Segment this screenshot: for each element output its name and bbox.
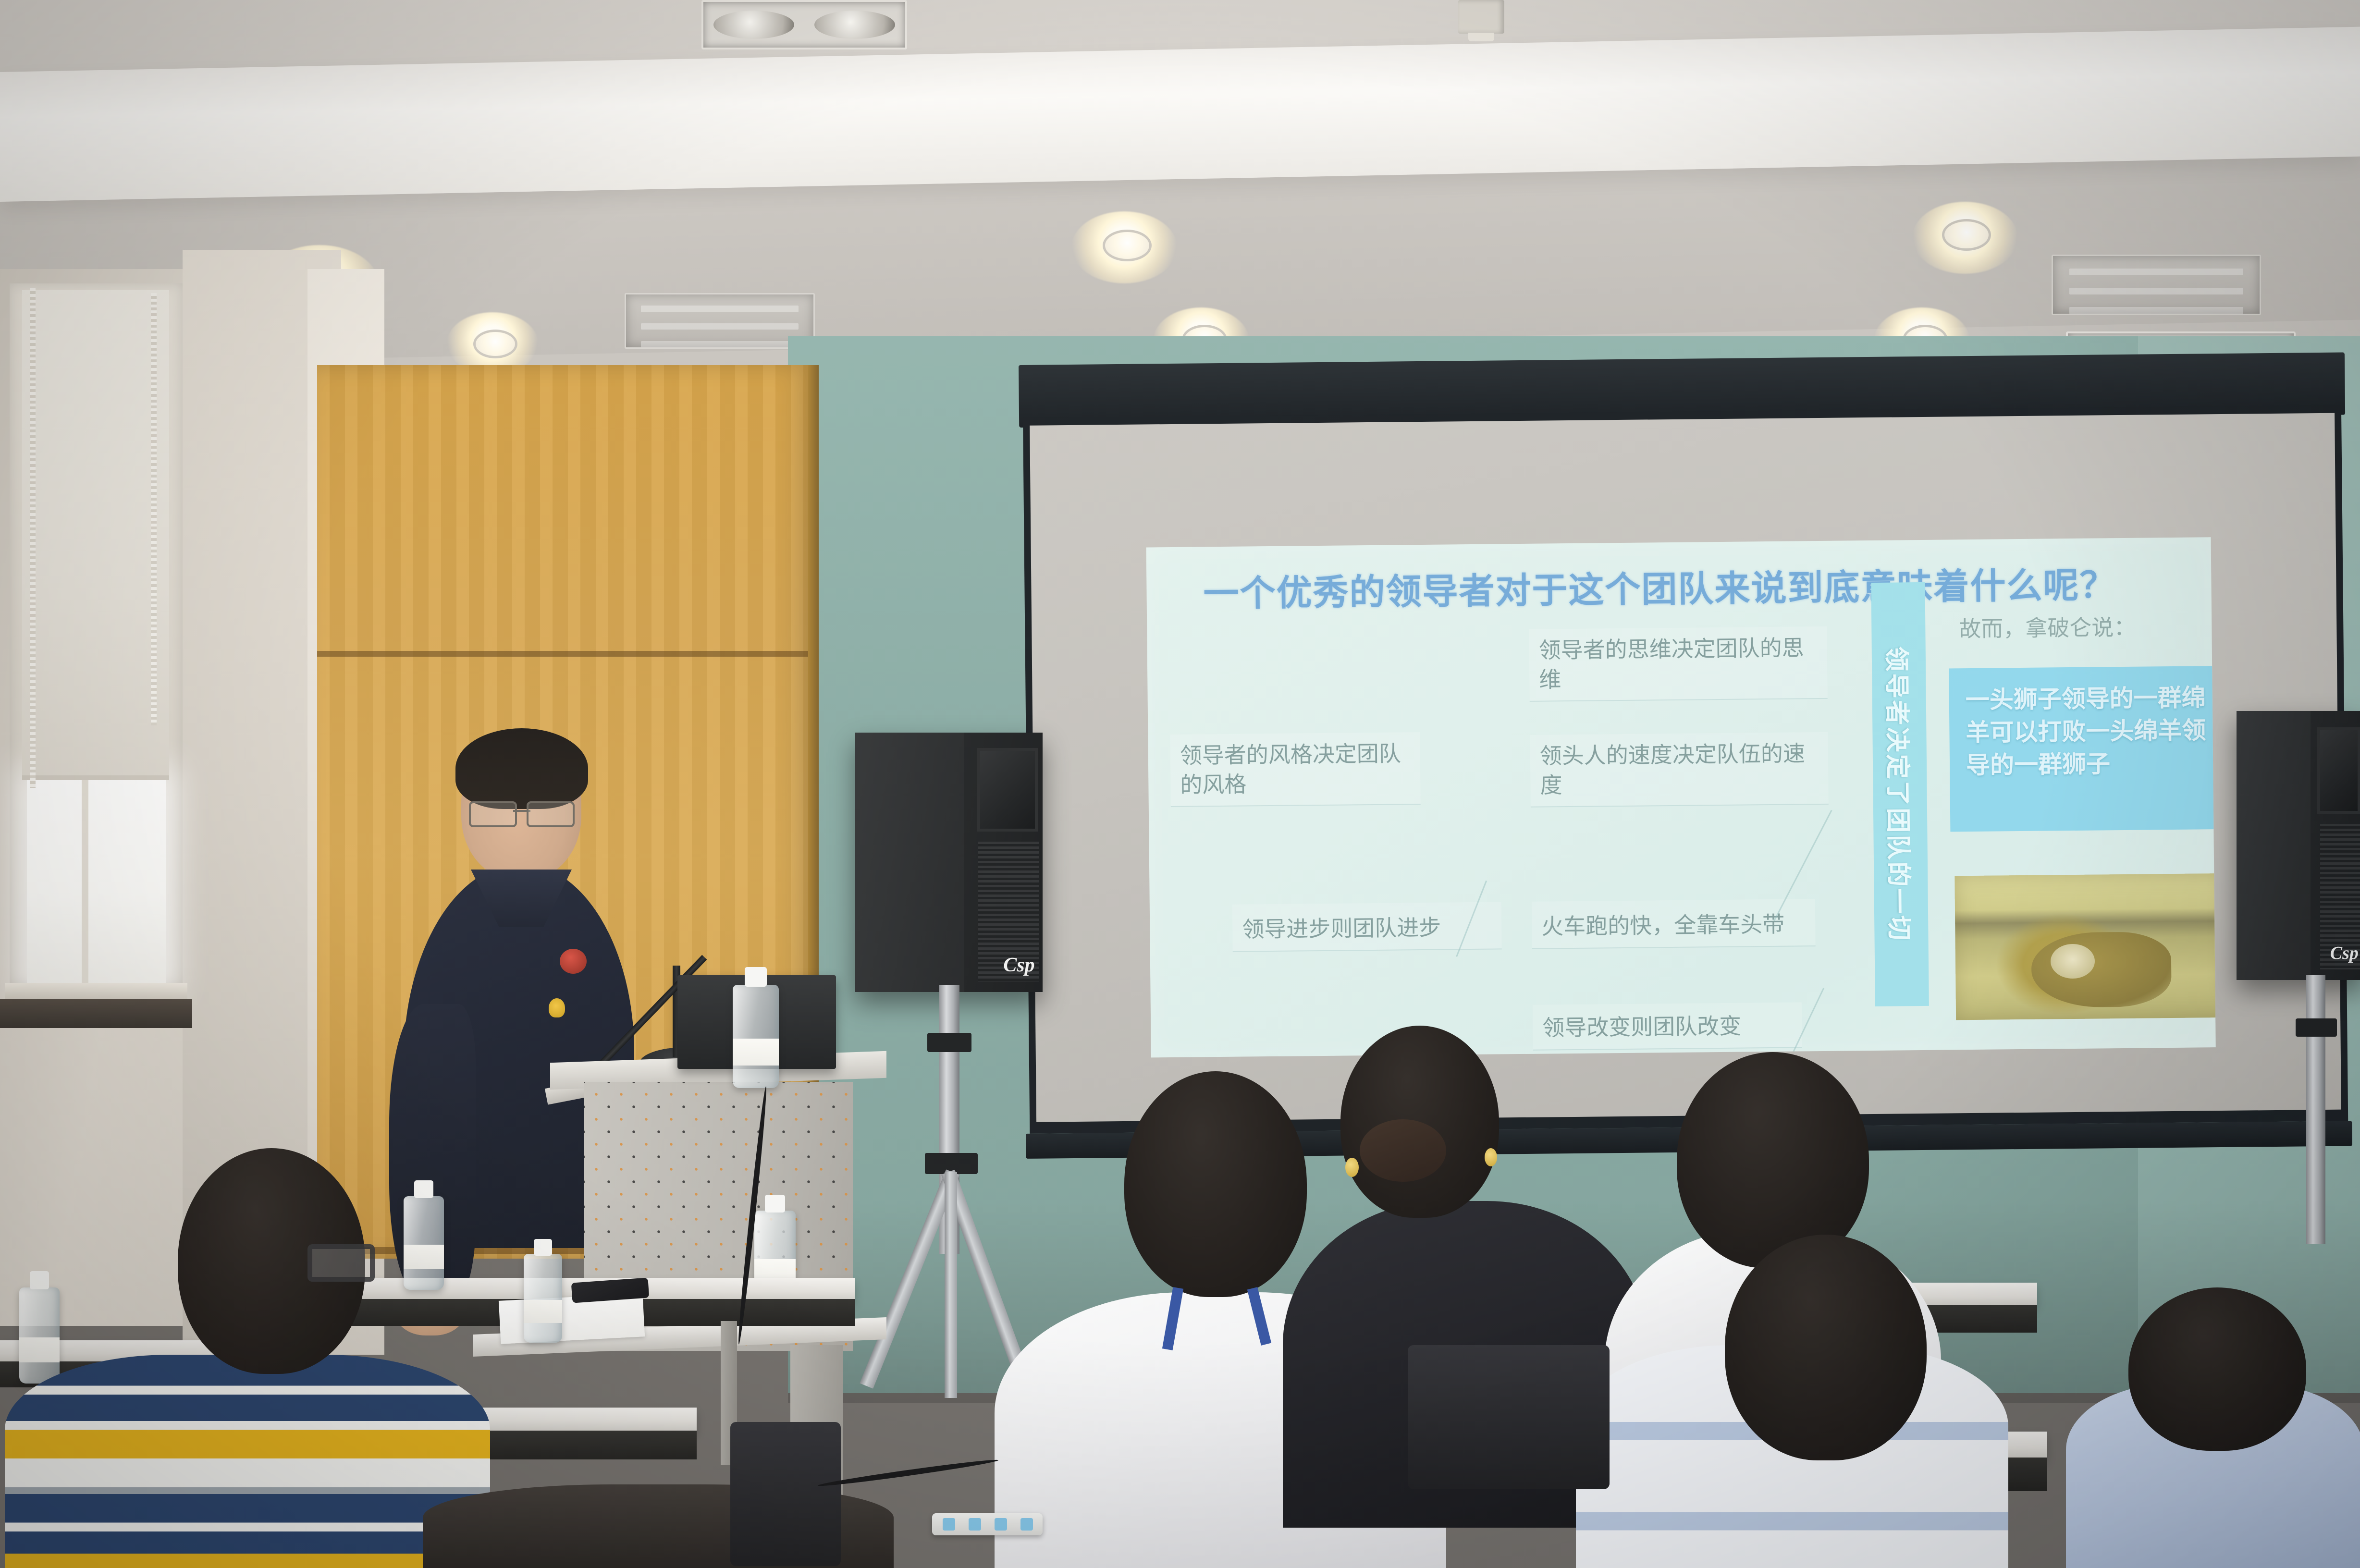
blind-chain[interactable]: [30, 288, 36, 788]
glasses-lens-right: [527, 801, 575, 827]
power-strip-socket-4: [1020, 1518, 1033, 1531]
attendee-white-shirt-head: [1124, 1071, 1307, 1297]
attendee-striped-polo-torso: [5, 1355, 490, 1568]
power-strip-socket-2: [969, 1518, 981, 1531]
hair-bun: [1360, 1119, 1446, 1182]
earring-icon: [1345, 1158, 1359, 1177]
ceiling-downlight-icon-5: [1942, 219, 1991, 251]
pa-speaker-horn-right: [2317, 727, 2360, 814]
roller-blind-icon[interactable]: [22, 290, 169, 780]
slide-napoleon-lead-in: 故而，拿破仑说：: [1959, 609, 2216, 644]
fire-sprinkler-icon: [1458, 0, 1504, 34]
pa-speaker-face: Csp: [964, 733, 1043, 992]
lion-body: [2031, 931, 2172, 1008]
power-strip-socket-3: [995, 1518, 1007, 1531]
lion-photo: [1954, 873, 2215, 1020]
presentation-slide: 一个优秀的领导者对于这个团队来说到底意味着什么呢？ 领导者的思维决定团队的思维 …: [1146, 537, 2216, 1057]
chair-2: [1408, 1345, 1610, 1489]
speaker-stand-column-right: [2306, 975, 2325, 1244]
water-bottle-4[interactable]: [524, 1254, 562, 1343]
pa-speaker-left: Csp: [855, 733, 1043, 992]
earring-icon-2: [1485, 1148, 1497, 1166]
pa-speaker-right: Csp: [2237, 711, 2360, 980]
pa-speaker-brand-label-right: Csp: [2330, 943, 2359, 964]
slide-box-thinking: 领导者的思维决定团队的思维: [1529, 626, 1827, 702]
ceiling-spotlight-box-icon: [701, 0, 907, 49]
speaker-stand-leg-left-3: [945, 1172, 957, 1398]
ceiling-downlight-icon-2: [473, 330, 517, 358]
paper-sheet[interactable]: [499, 1293, 645, 1344]
window-ledge: [0, 999, 192, 1028]
lecture-room-photo: 一个优秀的领导者对于这个团队来说到底意味着什么呢？ 领导者的思维决定团队的思维 …: [0, 0, 2360, 1568]
slide-box-change: 领导改变则团队改变: [1533, 1002, 1802, 1050]
speaker-stand-clamp-left: [927, 1033, 971, 1052]
air-vent-icon-2: [2052, 255, 2261, 315]
projection-screen: 一个优秀的领导者对于这个团队来说到底意味着什么呢？ 领导者的思维决定团队的思维 …: [1019, 353, 2352, 1172]
pa-speaker-horn: [977, 748, 1038, 832]
air-vent-icon: [625, 293, 815, 349]
water-bottle-5[interactable]: [19, 1287, 60, 1384]
slide-box-train: 火车跑的快，全靠车头带: [1532, 899, 1816, 949]
window-sill: [5, 983, 187, 1000]
blind-chain-2[interactable]: [151, 293, 157, 725]
attendee-blue-stripe-head: [1725, 1235, 1927, 1460]
slide-arrow-quote: 一头狮子领导的一群绵羊可以打败一头绵羊领导的一群狮子: [1965, 681, 2215, 782]
window: [10, 283, 183, 985]
slide-arrow-callout: 一头狮子领导的一群绵羊可以打败一头绵羊领导的一群狮子: [1949, 665, 2216, 832]
slide-vertical-banner: 领导者决定了团队的一切: [1871, 582, 1929, 1006]
pa-speaker-brand-label: Csp: [1003, 954, 1034, 977]
window-mullion: [82, 778, 88, 985]
microphone-head-icon: [560, 949, 587, 974]
window-glass: [27, 778, 166, 985]
slide-title: 一个优秀的领导者对于这个团队来说到底意味着什么呢？: [1203, 556, 2116, 616]
power-strip[interactable]: [932, 1513, 1043, 1535]
glasses-icon-attendee-1: [307, 1244, 375, 1282]
speaker-stand-clamp-right: [2296, 1018, 2337, 1037]
pa-speaker-face-right: Csp: [2311, 711, 2360, 980]
water-bottle-3[interactable]: [404, 1196, 444, 1290]
screen-surface: 一个优秀的领导者对于这个团队来说到底意味着什么呢？ 领导者的思维决定团队的思维 …: [1030, 413, 2341, 1122]
glasses-icon: [469, 801, 575, 823]
glasses-lens-left: [469, 801, 517, 827]
slide-vertical-banner-label: 领导者决定了团队的一切: [1881, 646, 1919, 943]
slide-box-speed: 领头人的速度决定队伍的速度: [1530, 732, 1828, 808]
slide-box-style: 领导者的风格决定团队的风格: [1170, 732, 1420, 807]
power-strip-socket: [943, 1518, 955, 1531]
polo-logo-icon: [549, 998, 565, 1017]
water-bottle[interactable]: [733, 985, 779, 1088]
presenter-hair: [455, 728, 588, 809]
chair: [730, 1422, 841, 1566]
attendee-light-blue-head: [2128, 1287, 2306, 1451]
wood-panel-seam: [317, 651, 812, 657]
ceiling-downlight-icon-3: [1103, 230, 1152, 261]
